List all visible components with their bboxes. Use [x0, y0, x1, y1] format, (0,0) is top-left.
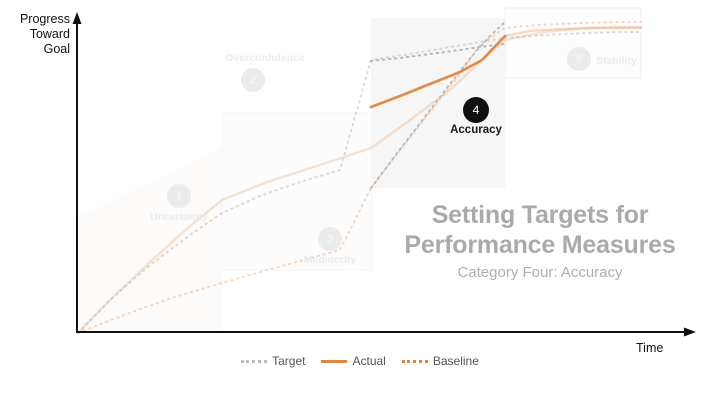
legend-label-target: Target	[272, 354, 305, 368]
stage-badge-3-number: 3	[327, 233, 333, 245]
chart-legend: Target Actual Baseline	[0, 354, 720, 368]
title-block: Setting Targets for Performance Measures…	[400, 200, 680, 284]
dotted-line-orange-icon	[402, 360, 428, 363]
stage-badge-2-number: 2	[250, 74, 256, 86]
y-axis-label: Progress Toward Goal	[8, 12, 70, 57]
legend-label-actual: Actual	[352, 354, 385, 368]
chart-canvas: Progress Toward Goal Time 1 Uncertainty …	[0, 0, 720, 405]
solid-line-icon	[321, 360, 347, 363]
stage-badge-5-number: 5	[576, 53, 582, 65]
page-title: Setting Targets for Performance Measures	[400, 200, 680, 260]
stage-badge-2[interactable]: 2	[241, 68, 265, 92]
stage-badge-3[interactable]: 3	[318, 227, 342, 251]
dotted-line-icon	[241, 360, 267, 363]
stage-label-3: Mediocrity	[297, 254, 363, 266]
legend-item-actual[interactable]: Actual	[321, 354, 385, 368]
legend-item-target[interactable]: Target	[241, 354, 305, 368]
legend-item-baseline[interactable]: Baseline	[402, 354, 479, 368]
y-axis-arrowhead	[73, 12, 82, 24]
stage-badge-5[interactable]: 5	[567, 47, 591, 71]
stage-badge-1[interactable]: 1	[167, 184, 191, 208]
stage-label-2: Overconfidence	[209, 52, 321, 64]
stage-badge-4-number: 4	[473, 103, 480, 117]
stage-label-4: Accuracy	[440, 124, 512, 136]
stage-label-5: Stability	[596, 55, 637, 67]
stage-badge-4[interactable]: 4	[463, 97, 489, 123]
x-axis-arrowhead	[684, 328, 696, 337]
stage-badge-1-number: 1	[176, 190, 182, 202]
page-subtitle: Category Four: Accuracy	[400, 262, 680, 284]
stage-regions	[78, 8, 641, 333]
stage-label-1: Uncertainty	[146, 211, 212, 223]
legend-label-baseline: Baseline	[433, 354, 479, 368]
